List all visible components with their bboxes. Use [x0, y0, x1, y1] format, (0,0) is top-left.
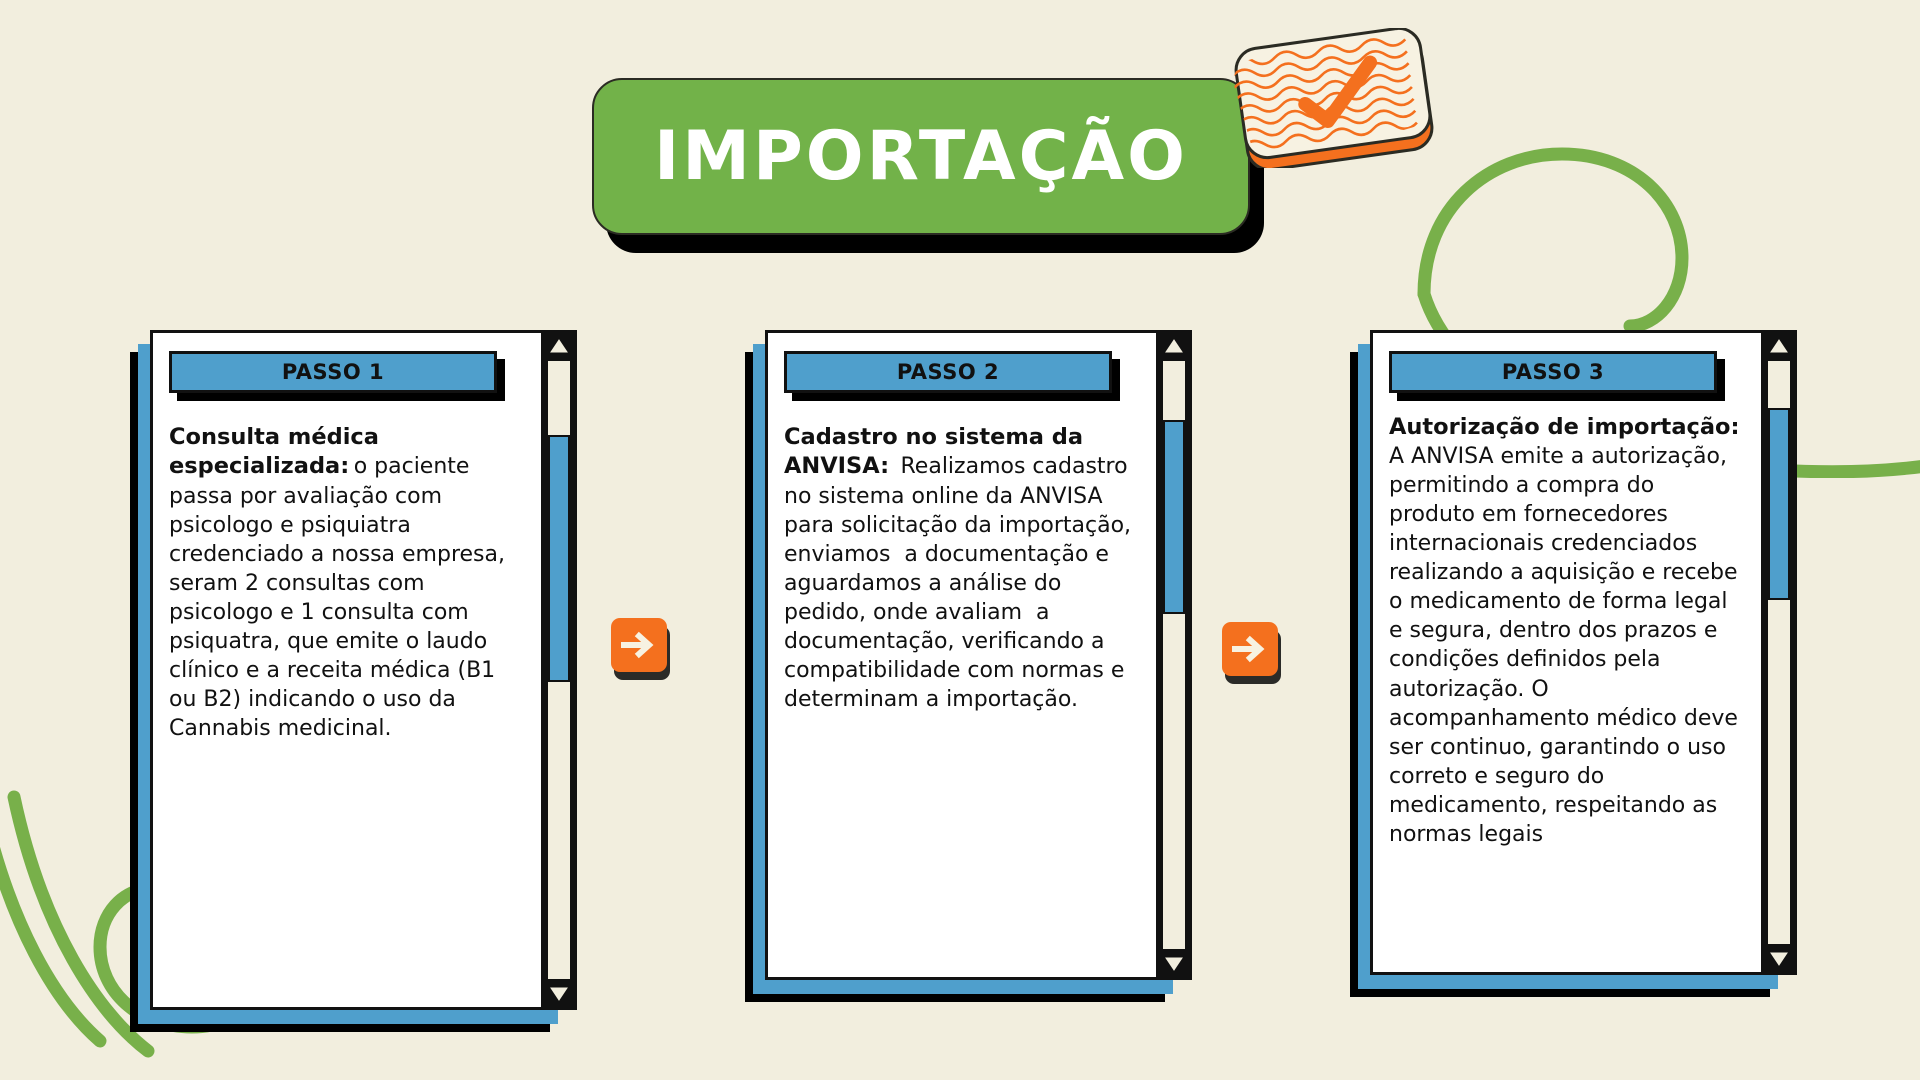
scroll-up-icon[interactable] [1764, 333, 1794, 359]
card-text-block: Cadastro no sistema da ANVISA: Realizamo… [784, 409, 1144, 714]
scrollbar-thumb[interactable] [1163, 420, 1185, 614]
step-header: PASSO 2 [784, 351, 1144, 401]
card-body-text: Realizamos cadastro no sistema online da… [784, 454, 1138, 711]
step-label: PASSO 2 [897, 360, 999, 384]
checkmark-badge-icon [1232, 28, 1442, 168]
scrollbar[interactable] [1761, 330, 1797, 975]
scroll-down-icon[interactable] [1159, 951, 1189, 977]
card-title: Autorização de importação: [1389, 414, 1739, 440]
infographic-canvas: IMPORTAÇÃO [0, 0, 1920, 1080]
step-card: PASSO 1 Consulta médica especializada: o… [130, 330, 560, 1010]
title-banner: IMPORTAÇÃO [592, 78, 1250, 235]
scroll-up-icon[interactable] [544, 333, 574, 359]
step-header-chip: PASSO 3 [1389, 351, 1717, 393]
card-content: PASSO 3 Autorização de importação: A ANV… [1370, 330, 1768, 975]
scroll-down-icon[interactable] [1764, 946, 1794, 972]
step-header: PASSO 1 [169, 351, 529, 401]
scroll-up-icon[interactable] [1159, 333, 1189, 359]
step-header: PASSO 3 [1389, 351, 1749, 401]
page-title-banner: IMPORTAÇÃO [592, 78, 1264, 253]
arrow-button[interactable] [1222, 622, 1278, 676]
card-content: PASSO 1 Consulta médica especializada: o… [150, 330, 548, 1010]
scrollbar[interactable] [1156, 330, 1192, 980]
step-label: PASSO 3 [1502, 360, 1604, 384]
scrollbar-track[interactable] [546, 359, 572, 981]
arrow-right-icon [1232, 634, 1268, 664]
card-body-text: A ANVISA emite a autorização, permitindo… [1389, 444, 1745, 846]
scrollbar-track[interactable] [1766, 359, 1792, 946]
scrollbar-track[interactable] [1161, 359, 1187, 951]
scrollbar-thumb[interactable] [1768, 408, 1790, 600]
step-label: PASSO 1 [282, 360, 384, 384]
step-card: PASSO 2 Cadastro no sistema da ANVISA: R… [745, 330, 1175, 980]
card-body-text: o paciente passa por avaliação com psico… [169, 454, 512, 741]
step-connector-arrow[interactable] [611, 618, 673, 680]
scrollbar-thumb[interactable] [548, 435, 570, 682]
card-title: Consulta médica especializada: [169, 424, 379, 479]
arrow-right-icon [621, 630, 657, 660]
card-text-block: Consulta médica especializada: o pacient… [169, 409, 529, 743]
card-text-block: Autorização de importação: A ANVISA emit… [1389, 409, 1749, 849]
scroll-down-icon[interactable] [544, 981, 574, 1007]
step-header-chip: PASSO 1 [169, 351, 497, 393]
step-header-chip: PASSO 2 [784, 351, 1112, 393]
card-content: PASSO 2 Cadastro no sistema da ANVISA: R… [765, 330, 1163, 980]
step-connector-arrow[interactable] [1222, 622, 1284, 684]
scrollbar[interactable] [541, 330, 577, 1010]
arrow-button[interactable] [611, 618, 667, 672]
step-card: PASSO 3 Autorização de importação: A ANV… [1350, 330, 1780, 975]
page-title: IMPORTAÇÃO [654, 123, 1188, 191]
